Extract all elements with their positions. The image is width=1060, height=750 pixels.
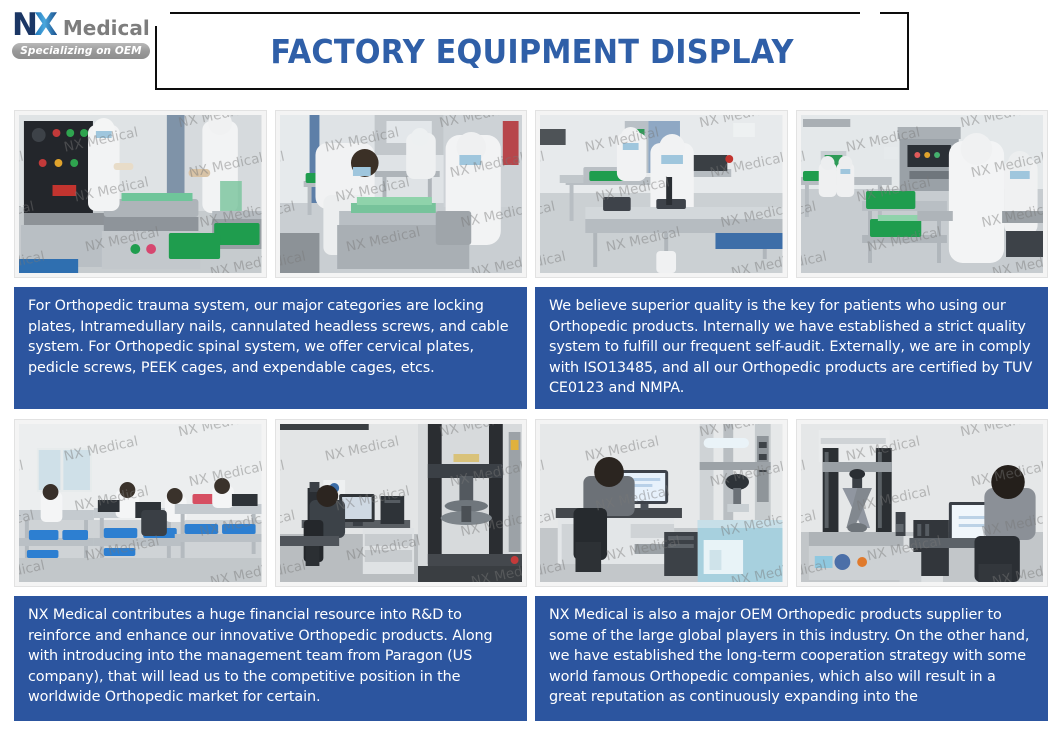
photo-7-illustration (540, 424, 783, 582)
photo-cell-2: NX MedicalNX MedicalNX MedicalNX Medical… (275, 110, 528, 278)
photo-5-illustration (19, 424, 262, 582)
photo-3-illustration (540, 115, 783, 273)
text-block-oem: NX Medical is also a major OEM Orthopedi… (535, 596, 1048, 721)
photo-cell-5: NX MedicalNX MedicalNX MedicalNX Medical… (14, 419, 267, 587)
photo-4-illustration (801, 115, 1044, 273)
title-frame: FACTORY EQUIPMENT DISPLAY (155, 12, 909, 90)
row-spacer (14, 409, 1048, 419)
photo-cleanroom-tables: NX MedicalNX MedicalNX MedicalNX Medical… (540, 115, 783, 273)
logo-wordmark: N X Medical (12, 8, 152, 42)
text-block-quality-body: We believe superior quality is the key f… (549, 296, 1036, 399)
logo-tagline-banner: Specializing on OEM (12, 43, 150, 59)
logo-letter-x: X (34, 8, 57, 42)
logo-tagline-text: Specializing on OEM (20, 45, 141, 57)
photo-lab-workbenches: NX MedicalNX MedicalNX MedicalNX Medical… (19, 424, 262, 582)
logo-word-medical: Medical (63, 11, 150, 45)
content-grid: NX MedicalNX MedicalNX MedicalNX Medical… (14, 110, 1048, 721)
text-block-rnd-body: NX Medical contributes a huge financial … (28, 605, 515, 708)
company-logo: N X Medical Specializing on OEM (12, 8, 152, 62)
text-row-1: For Orthopedic trauma system, our major … (14, 287, 1048, 409)
text-block-products-body: For Orthopedic trauma system, our major … (28, 296, 515, 378)
text-row-2: NX Medical contributes a huge financial … (14, 596, 1048, 721)
photo-cell-1: NX MedicalNX MedicalNX MedicalNX Medical… (14, 110, 267, 278)
page-title: FACTORY EQUIPMENT DISPLAY (185, 12, 879, 90)
text-block-oem-body: NX Medical is also a major OEM Orthopedi… (549, 605, 1036, 708)
text-block-rnd: NX Medical contributes a huge financial … (14, 596, 527, 721)
photo-2-illustration (280, 115, 523, 273)
photo-cleanroom-sealing-machine: NX MedicalNX MedicalNX MedicalNX Medical… (19, 115, 262, 273)
photo-row-2: NX MedicalNX MedicalNX MedicalNX Medical… (14, 419, 1048, 587)
photo-operators-packaging: NX MedicalNX MedicalNX MedicalNX Medical… (280, 115, 523, 273)
photo-materials-testing-station: NX MedicalNX MedicalNX MedicalNX Medical… (280, 424, 523, 582)
photo-cell-7: NX MedicalNX MedicalNX MedicalNX Medical… (535, 419, 788, 587)
photo-6-illustration (280, 424, 523, 582)
frame-right-edge (907, 12, 909, 90)
frame-top-segment-right (880, 12, 909, 14)
page-header: N X Medical Specializing on OEM FACTORY … (0, 0, 1060, 104)
photo-8-illustration (801, 424, 1044, 582)
photo-cell-3: NX MedicalNX MedicalNX MedicalNX Medical… (535, 110, 788, 278)
photo-fatigue-testing-station: NX MedicalNX MedicalNX MedicalNX Medical… (801, 424, 1044, 582)
text-block-quality: We believe superior quality is the key f… (535, 287, 1048, 409)
photo-cell-8: NX MedicalNX MedicalNX MedicalNX Medical… (796, 419, 1049, 587)
photo-1-illustration (19, 115, 262, 273)
photo-cell-6: NX MedicalNX MedicalNX MedicalNX Medical… (275, 419, 528, 587)
photo-cell-4: NX MedicalNX MedicalNX MedicalNX Medical… (796, 110, 1049, 278)
photo-row-1: NX MedicalNX MedicalNX MedicalNX Medical… (14, 110, 1048, 278)
text-block-products: For Orthopedic trauma system, our major … (14, 287, 527, 409)
factory-equipment-display-page: N X Medical Specializing on OEM FACTORY … (0, 0, 1060, 750)
frame-left-edge (155, 26, 157, 90)
photo-cleanroom-crates: NX MedicalNX MedicalNX MedicalNX Medical… (801, 115, 1044, 273)
photo-blue-test-rig-station: NX MedicalNX MedicalNX MedicalNX Medical… (540, 424, 783, 582)
